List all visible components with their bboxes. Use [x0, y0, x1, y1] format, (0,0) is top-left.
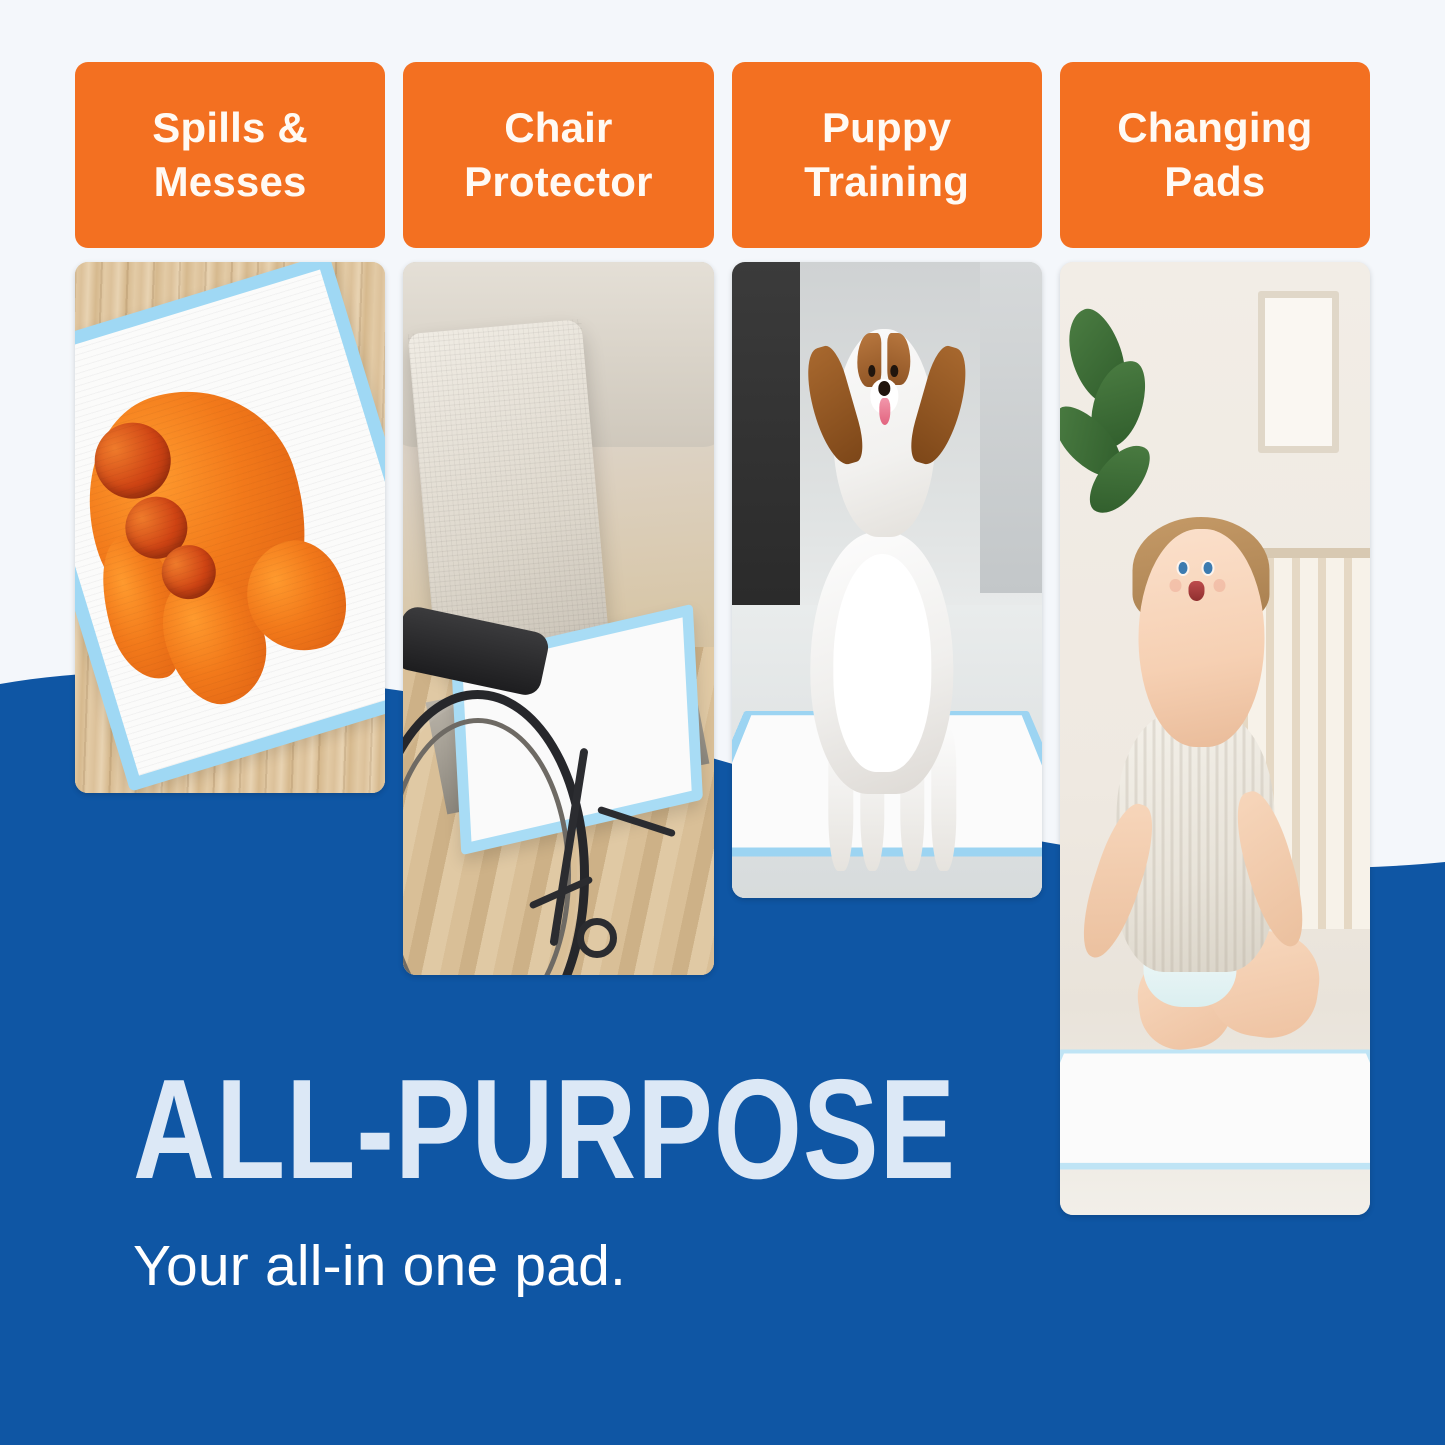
photo-spills-messes	[75, 262, 385, 793]
spill-graphic	[75, 364, 335, 665]
sauce-blob-graphic	[156, 538, 223, 605]
page-title: ALL-PURPOSE	[133, 1068, 837, 1193]
photo-chair-protector	[403, 262, 713, 975]
baby-graphic	[1078, 529, 1351, 1120]
photo-changing-pads	[1060, 262, 1370, 1215]
badge-changing-pads[interactable]: Changing Pads	[1060, 62, 1370, 248]
hero-text-block: ALL-PURPOSE Your all-in one pad.	[133, 1068, 1013, 1298]
puppy-graphic	[775, 313, 998, 860]
page-subtitle: Your all-in one pad.	[133, 1235, 1013, 1298]
photo-puppy-training	[732, 262, 1042, 898]
baby-head-graphic	[1138, 529, 1264, 748]
baby-eye-graphic	[1179, 562, 1188, 574]
puppy-chest-graphic	[833, 554, 931, 773]
spill-branch-graphic	[234, 529, 359, 664]
use-case-badge-row: Spills & Messes Chair Protector Puppy Tr…	[75, 62, 1370, 248]
baby-cheek-graphic	[1170, 579, 1181, 592]
sauce-blob-graphic	[86, 413, 181, 508]
puppy-fur-patch-graphic	[887, 333, 910, 385]
picture-frame-graphic	[1258, 291, 1339, 453]
badge-spills-messes[interactable]: Spills & Messes	[75, 62, 385, 248]
product-feature-graphic: Spills & Messes Chair Protector Puppy Tr…	[0, 0, 1445, 1445]
baby-cheek-graphic	[1214, 579, 1225, 592]
spill-branch-graphic	[87, 527, 197, 688]
puppy-nose-graphic	[878, 381, 890, 396]
puppy-tongue-graphic	[879, 398, 890, 425]
baby-mouth-graphic	[1189, 581, 1205, 601]
wheelchair-caster-graphic	[577, 918, 617, 958]
badge-chair-protector[interactable]: Chair Protector	[403, 62, 713, 248]
sauce-blob-graphic	[118, 489, 195, 566]
spill-branch-graphic	[150, 563, 280, 715]
baby-eye-graphic	[1204, 562, 1213, 574]
puppy-eye-graphic	[868, 365, 876, 377]
absorbent-pad-graphic	[75, 262, 385, 791]
badge-puppy-training[interactable]: Puppy Training	[732, 62, 1042, 248]
